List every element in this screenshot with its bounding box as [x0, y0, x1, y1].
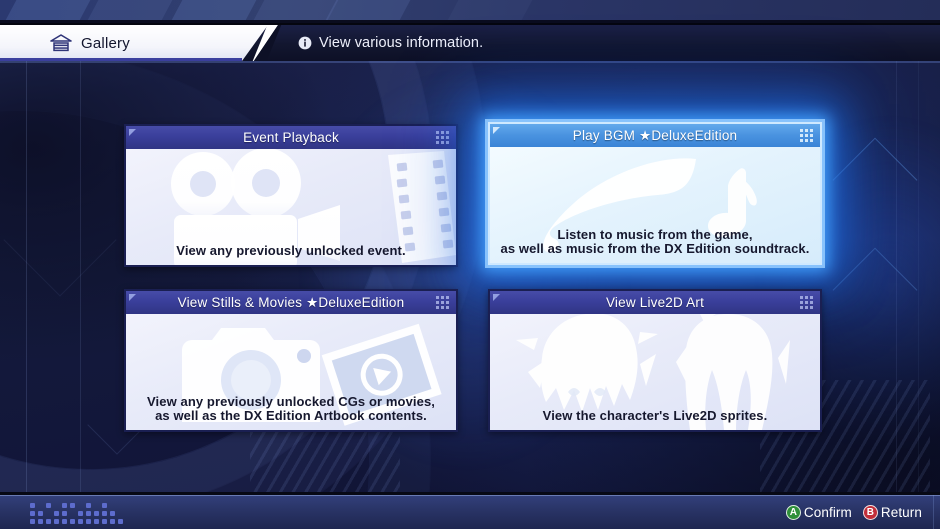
- card-title-bar: Play BGM ★DeluxeEdition: [490, 124, 820, 147]
- header-info: View various information.: [274, 25, 940, 61]
- return-button-hint[interactable]: B Return: [863, 505, 922, 520]
- header-info-label: View various information.: [319, 35, 483, 51]
- card-body: View any previously unlocked event.: [126, 149, 456, 265]
- card-view-stills-movies[interactable]: View Stills & Movies ★DeluxeEdition: [124, 289, 458, 432]
- corner-mark-icon: [129, 129, 136, 136]
- gallery-screen: Gallery View various information. Event …: [0, 0, 940, 529]
- footer-vertical-line: [933, 495, 934, 529]
- card-play-bgm[interactable]: Play BGM ★DeluxeEdition Listen to mu: [488, 122, 822, 265]
- card-description-line1: Listen to music from the game,: [490, 228, 820, 243]
- top-banner-strip: [0, 0, 940, 23]
- footer-dot-matrix-decoration: [30, 503, 124, 525]
- card-title-bar: View Live2D Art: [490, 291, 820, 314]
- confirm-button-hint[interactable]: A Confirm: [786, 505, 852, 520]
- return-label: Return: [881, 505, 922, 520]
- card-title-label: Event Playback: [243, 130, 339, 145]
- dot-grid-icon: [436, 296, 449, 309]
- card-body: View the character's Live2D sprites.: [490, 314, 820, 430]
- tab-gallery-label: Gallery: [81, 35, 130, 52]
- card-description-line1: View any previously unlocked event.: [176, 243, 405, 258]
- card-description-line2: as well as the DX Edition Artbook conten…: [126, 409, 456, 424]
- header-bar: Gallery View various information.: [0, 25, 940, 61]
- gallery-building-icon: [50, 34, 72, 52]
- card-description-line1: View any previously unlocked CGs or movi…: [126, 395, 456, 410]
- confirm-label: Confirm: [804, 505, 852, 520]
- card-title-bar: Event Playback: [126, 126, 456, 149]
- dot-grid-icon: [800, 296, 813, 309]
- info-circle-icon: [298, 36, 312, 50]
- footer-button-hints: A Confirm B Return: [786, 495, 922, 529]
- footer-bar: A Confirm B Return: [0, 495, 940, 529]
- button-b-icon: B: [863, 505, 878, 520]
- card-description-line1: View the character's Live2D sprites.: [543, 408, 768, 423]
- dot-grid-icon: [800, 129, 813, 142]
- card-title-bar: View Stills & Movies ★DeluxeEdition: [126, 291, 456, 314]
- card-title-label: Play BGM ★DeluxeEdition: [573, 128, 738, 144]
- card-view-live2d-art[interactable]: View Live2D Art: [488, 289, 822, 432]
- card-event-playback[interactable]: Event Playback: [124, 124, 458, 267]
- card-title-label: View Live2D Art: [606, 295, 704, 310]
- corner-mark-icon: [493, 127, 500, 134]
- card-body: View any previously unlocked CGs or movi…: [126, 314, 456, 430]
- gallery-card-grid: Event Playback: [0, 62, 940, 492]
- corner-mark-icon: [493, 294, 500, 301]
- button-a-icon: A: [786, 505, 801, 520]
- card-description: Listen to music from the game, as well a…: [490, 228, 820, 257]
- card-description-line2: as well as music from the DX Edition sou…: [490, 242, 820, 257]
- card-title-label: View Stills & Movies ★DeluxeEdition: [178, 295, 405, 311]
- tab-gallery[interactable]: Gallery: [0, 25, 268, 61]
- card-description: View any previously unlocked event.: [126, 244, 456, 259]
- corner-mark-icon: [129, 294, 136, 301]
- card-body: Listen to music from the game, as well a…: [490, 147, 820, 263]
- card-description: View any previously unlocked CGs or movi…: [126, 395, 456, 424]
- dot-grid-icon: [436, 131, 449, 144]
- card-description: View the character's Live2D sprites.: [490, 409, 820, 424]
